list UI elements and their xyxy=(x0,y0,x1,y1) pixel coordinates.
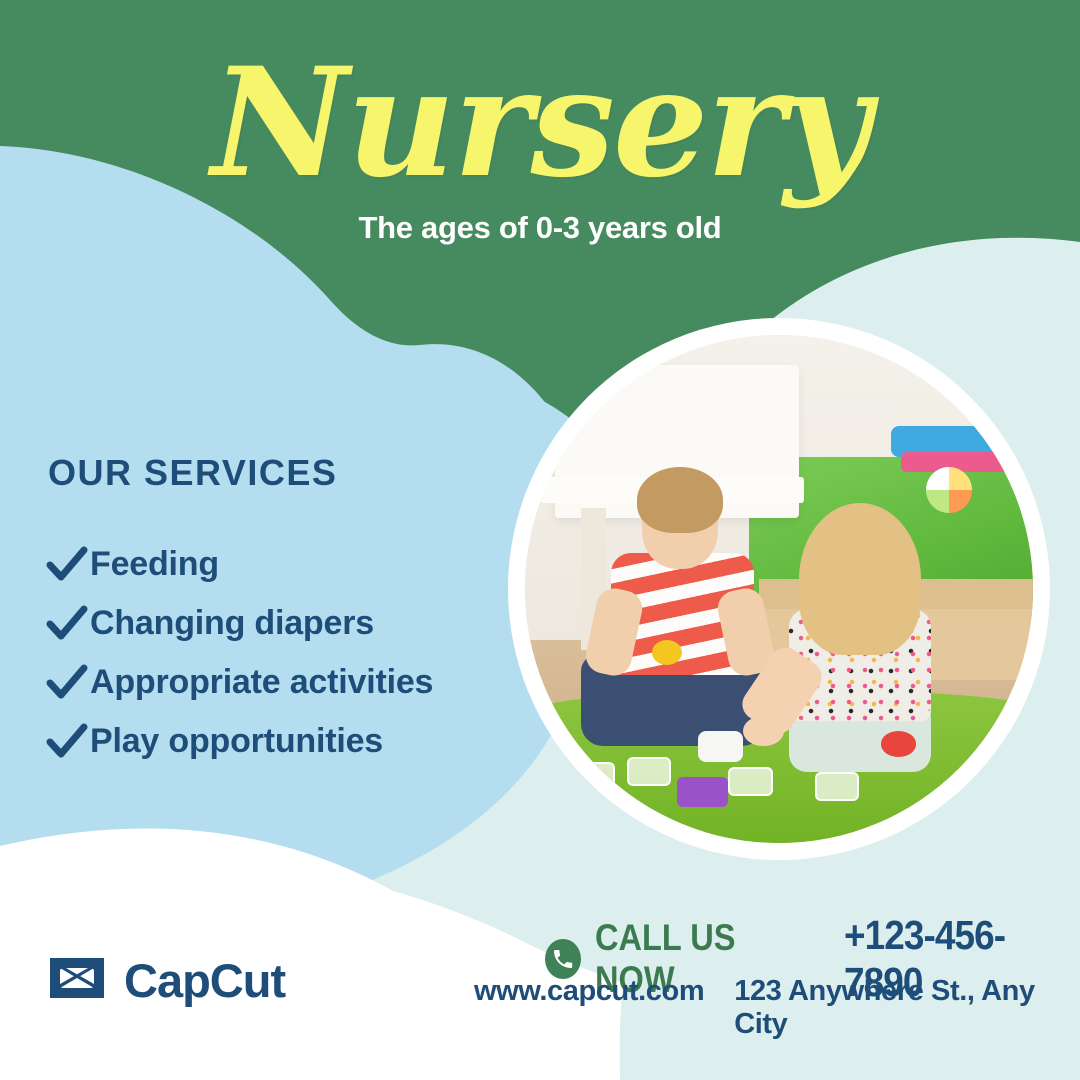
nursery-photo xyxy=(525,335,1033,843)
check-icon xyxy=(44,604,90,644)
services-heading: OUR SERVICES xyxy=(48,452,337,494)
phone-icon xyxy=(545,939,581,979)
capcut-logo-icon xyxy=(46,952,108,1009)
page-title: Nursery xyxy=(0,48,1080,198)
services-list: Feeding Changing diapers Appropriate act… xyxy=(44,535,433,771)
list-item: Play opportunities xyxy=(44,712,433,771)
service-label: Appropriate activities xyxy=(90,663,433,702)
check-icon xyxy=(44,663,90,703)
list-item: Feeding xyxy=(44,535,433,594)
list-item: Changing diapers xyxy=(44,594,433,653)
contact-meta-row: www.capcut.com 123 Anywhere St., Any Cit… xyxy=(474,975,1080,1041)
photo-circle-frame xyxy=(508,318,1050,860)
list-item: Appropriate activities xyxy=(44,653,433,712)
page-subtitle: The ages of 0-3 years old xyxy=(0,210,1080,246)
check-icon xyxy=(44,722,90,762)
poster-canvas: Nursery The ages of 0-3 years old OUR SE… xyxy=(0,0,1080,1080)
capcut-logo[interactable]: CapCut xyxy=(46,952,285,1009)
service-label: Changing diapers xyxy=(90,604,374,643)
service-label: Feeding xyxy=(90,545,219,584)
service-label: Play opportunities xyxy=(90,722,383,761)
address-text: 123 Anywhere St., Any City xyxy=(734,975,1080,1041)
capcut-wordmark: CapCut xyxy=(124,953,285,1008)
check-icon xyxy=(44,545,90,585)
website-link[interactable]: www.capcut.com xyxy=(474,975,704,1008)
